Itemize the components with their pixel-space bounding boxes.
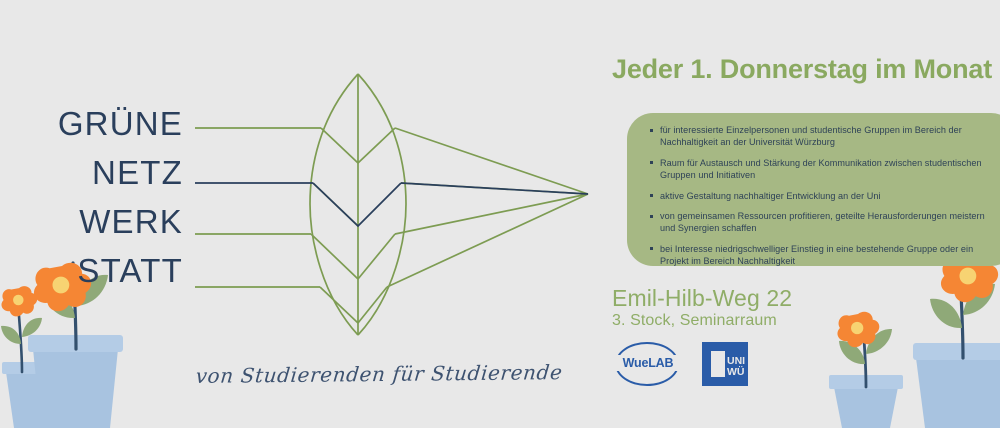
list-item: bei Interesse niedrigschwelliger Einstie…: [649, 243, 991, 268]
wuelab-label: WueLAB: [610, 355, 686, 371]
address-street: Emil-Hilb-Weg 22: [612, 285, 792, 312]
list-item: aktive Gestaltung nachhaltiger Entwicklu…: [649, 190, 991, 202]
brand-word-werk: WERK: [0, 198, 183, 246]
uniwue-mark-icon: UNI WÜ: [702, 342, 748, 386]
tagline: von Studierenden für Studierende: [195, 360, 564, 388]
wuelab-logo[interactable]: WueLAB: [610, 342, 686, 386]
info-bullet-box: für interessierte Einzelpersonen und stu…: [627, 113, 1000, 266]
address-room: 3. Stock, Seminarraum: [612, 312, 777, 330]
headline: Jeder 1. Donnerstag im Monat: [612, 54, 992, 85]
brand-word-netz: NETZ: [0, 149, 183, 197]
uniwue-logo[interactable]: UNI WÜ: [702, 342, 748, 386]
logo-row: WueLAB UNI WÜ: [610, 342, 748, 386]
brand-word-statt: STATT: [0, 247, 183, 295]
brand-word-gruene: GRÜNE: [0, 100, 183, 148]
brand-word-stack: GRÜNE NETZ WERK STATT: [0, 100, 183, 296]
list-item: für interessierte Einzelpersonen und stu…: [649, 124, 991, 149]
svg-text:WÜ: WÜ: [727, 365, 745, 378]
info-bullet-list: für interessierte Einzelpersonen und stu…: [649, 124, 991, 268]
info-column: Jeder 1. Donnerstag im Monat für interes…: [596, 0, 1000, 428]
list-item: Raum für Austausch und Stärkung der Komm…: [649, 157, 991, 182]
list-item: von gemeinsamen Ressourcen profitieren, …: [649, 210, 991, 235]
poster-canvas: GRÜNE NETZ WERK STATT von Studierenden f…: [0, 0, 1000, 428]
